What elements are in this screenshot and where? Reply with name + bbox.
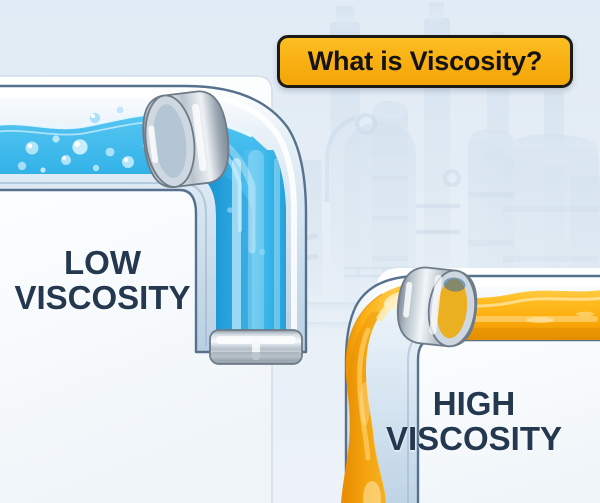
high-viscosity-label: HIGH VISCOSITY — [345, 387, 600, 457]
viscosity-illustration: What is Viscosity? LOW VISCOSITY HIGH VI… — [0, 0, 600, 503]
low-viscosity-label-line1: LOW — [0, 246, 205, 281]
low-viscosity-label: LOW VISCOSITY — [0, 246, 205, 316]
low-viscosity-label-line2: VISCOSITY — [0, 281, 205, 316]
high-viscosity-label-line1: HIGH — [345, 387, 600, 422]
title-banner: What is Viscosity? — [277, 35, 573, 88]
high-viscosity-label-line2: VISCOSITY — [345, 422, 600, 457]
orange-pipe-collar — [394, 265, 480, 349]
title-text: What is Viscosity? — [308, 48, 542, 75]
